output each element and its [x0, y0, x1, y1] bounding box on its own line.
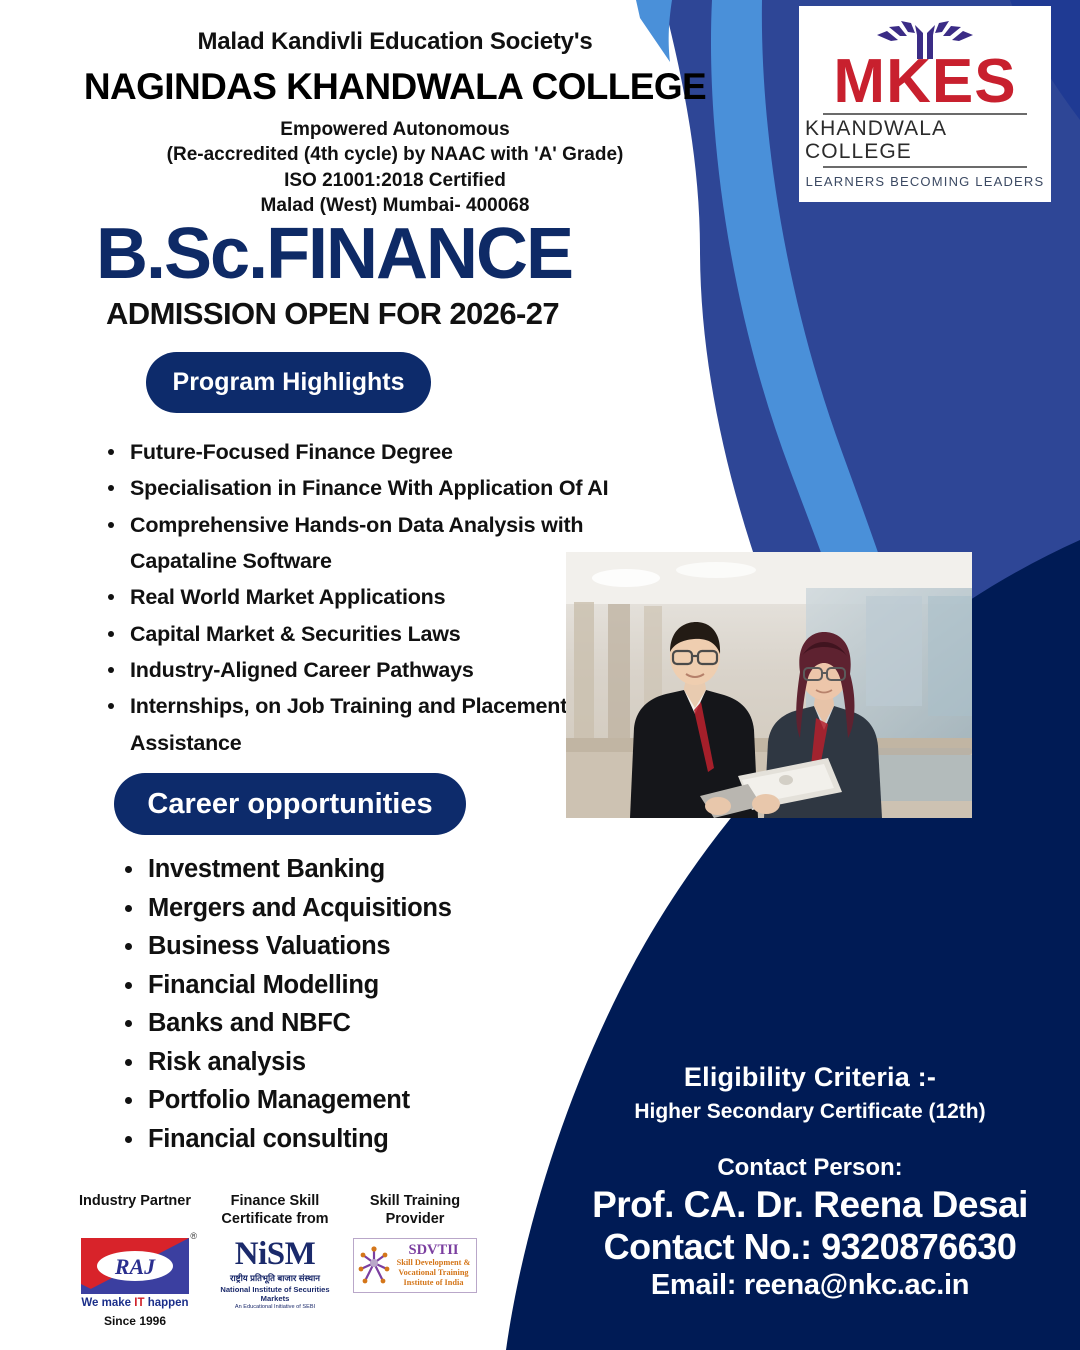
accreditation-line-3: ISO 21001:2018 Certified — [0, 168, 790, 193]
partner-logos-strip: Industry Partner RAJ ® We make IT happen — [70, 1192, 480, 1328]
list-item: Portfolio Management — [148, 1081, 588, 1120]
raj-logo: RAJ ® We make IT happen Since 1996 — [76, 1238, 194, 1328]
accreditation-line-2: (Re-accredited (4th cycle) by NAAC with … — [0, 142, 790, 167]
raj-since: Since 1996 — [76, 1314, 194, 1328]
poster-root: MKES KHANDWALA COLLEGE LEARNERS BECOMING… — [0, 0, 1080, 1350]
header-block: Malad Kandivli Education Society's NAGIN… — [0, 0, 790, 218]
raj-registered-icon: ® — [190, 1231, 197, 1241]
logo-acronym: MKES — [833, 53, 1016, 110]
nism-wordmark: NiSM — [215, 1238, 335, 1271]
sdvtii-line-3: Institute of India — [394, 1278, 473, 1288]
list-item: Industry-Aligned Career Pathways — [130, 652, 610, 688]
contact-person-name: Prof. CA. Dr. Reena Desai — [560, 1184, 1060, 1226]
students-photo — [566, 552, 972, 818]
raj-tagline-it: IT — [134, 1297, 144, 1309]
partner-label: Industry Partner — [70, 1192, 200, 1230]
contact-person-label: Contact Person: — [560, 1154, 1060, 1182]
contact-email[interactable]: Email: reena@nkc.ac.in — [560, 1269, 1060, 1302]
list-item: Specialisation in Finance With Applicati… — [130, 470, 610, 506]
logo-college-name: KHANDWALA COLLEGE — [805, 117, 1045, 163]
list-item: Future-Focused Finance Degree — [130, 434, 610, 470]
raj-tagline-post: happen — [145, 1297, 189, 1309]
partner-label: Skill Training Provider — [350, 1192, 480, 1230]
list-item: Banks and NBFC — [148, 1004, 588, 1043]
partner-label: Finance Skill Certificate from — [210, 1192, 340, 1230]
nism-sebi-line: An Educational Initiative of SEBI — [215, 1304, 335, 1310]
raj-tagline: We make IT happen — [76, 1297, 194, 1309]
list-item: Financial consulting — [148, 1120, 588, 1159]
list-item: Real World Market Applications — [130, 579, 610, 615]
eligibility-value: Higher Secondary Certificate (12th) — [560, 1100, 1060, 1124]
raj-tagline-pre: We make — [81, 1297, 134, 1309]
list-item: Comprehensive Hands-on Data Analysis wit… — [130, 507, 610, 580]
partner-skill-training: Skill Training Provider — [350, 1192, 480, 1328]
sdvtii-wordmark: SDVTII — [394, 1243, 473, 1258]
eligibility-label: Eligibility Criteria :- — [560, 1062, 1060, 1093]
logo-divider-bottom — [823, 166, 1027, 168]
logo-divider-top — [823, 113, 1027, 115]
list-item: Risk analysis — [148, 1043, 588, 1082]
society-name: Malad Kandivli Education Society's — [0, 28, 790, 56]
sdvtii-star-icon — [357, 1245, 391, 1285]
college-name: NAGINDAS KHANDWALA COLLEGE — [0, 66, 790, 108]
nism-english-name: National Institute of Securities Markets — [215, 1285, 335, 1303]
list-item: Mergers and Acquisitions — [148, 889, 588, 928]
accreditation-line-1: Empowered Autonomous — [0, 117, 790, 142]
raj-mark: RAJ ® — [81, 1238, 189, 1294]
contact-block: Eligibility Criteria :- Higher Secondary… — [560, 1062, 1060, 1302]
accreditation-block: Empowered Autonomous (Re-accredited (4th… — [0, 117, 790, 218]
list-item: Business Valuations — [148, 927, 588, 966]
career-opportunities-pill: Career opportunities — [114, 773, 466, 835]
list-item: Investment Banking — [148, 850, 588, 889]
sdvtii-line-2: Vocational Training — [394, 1268, 473, 1278]
partner-industry: Industry Partner RAJ ® We make IT happen — [70, 1192, 200, 1328]
program-highlights-pill: Program Highlights — [146, 352, 431, 413]
nism-logo: NiSM राष्ट्रीय प्रतिभूति बाजार संस्थान N… — [215, 1238, 335, 1310]
contact-phone[interactable]: Contact No.: 9320876630 — [560, 1226, 1060, 1268]
program-highlights-list: Future-Focused Finance Degree Specialisa… — [100, 434, 610, 761]
course-title: B.Sc.FINANCE — [96, 218, 572, 290]
career-opportunities-list: Investment Banking Mergers and Acquisiti… — [118, 850, 588, 1158]
mkes-logo-card: MKES KHANDWALA COLLEGE LEARNERS BECOMING… — [799, 6, 1051, 202]
list-item: Capital Market & Securities Laws — [130, 616, 610, 652]
list-item: Financial Modelling — [148, 966, 588, 1005]
sdvtii-line-1: Skill Development & — [394, 1258, 473, 1268]
admission-subtitle: ADMISSION OPEN FOR 2026-27 — [106, 296, 559, 332]
logo-tagline: LEARNERS BECOMING LEADERS — [806, 174, 1045, 189]
partner-finance-skill: Finance Skill Certificate from NiSM राष्… — [210, 1192, 340, 1328]
sdvtii-logo: SDVTII Skill Development & Vocational Tr… — [353, 1238, 477, 1293]
svg-text:RAJ: RAJ — [114, 1254, 156, 1279]
nism-hindi-name: राष्ट्रीय प्रतिभूति बाजार संस्थान — [215, 1273, 335, 1284]
list-item: Internships, on Job Training and Placeme… — [130, 688, 610, 761]
